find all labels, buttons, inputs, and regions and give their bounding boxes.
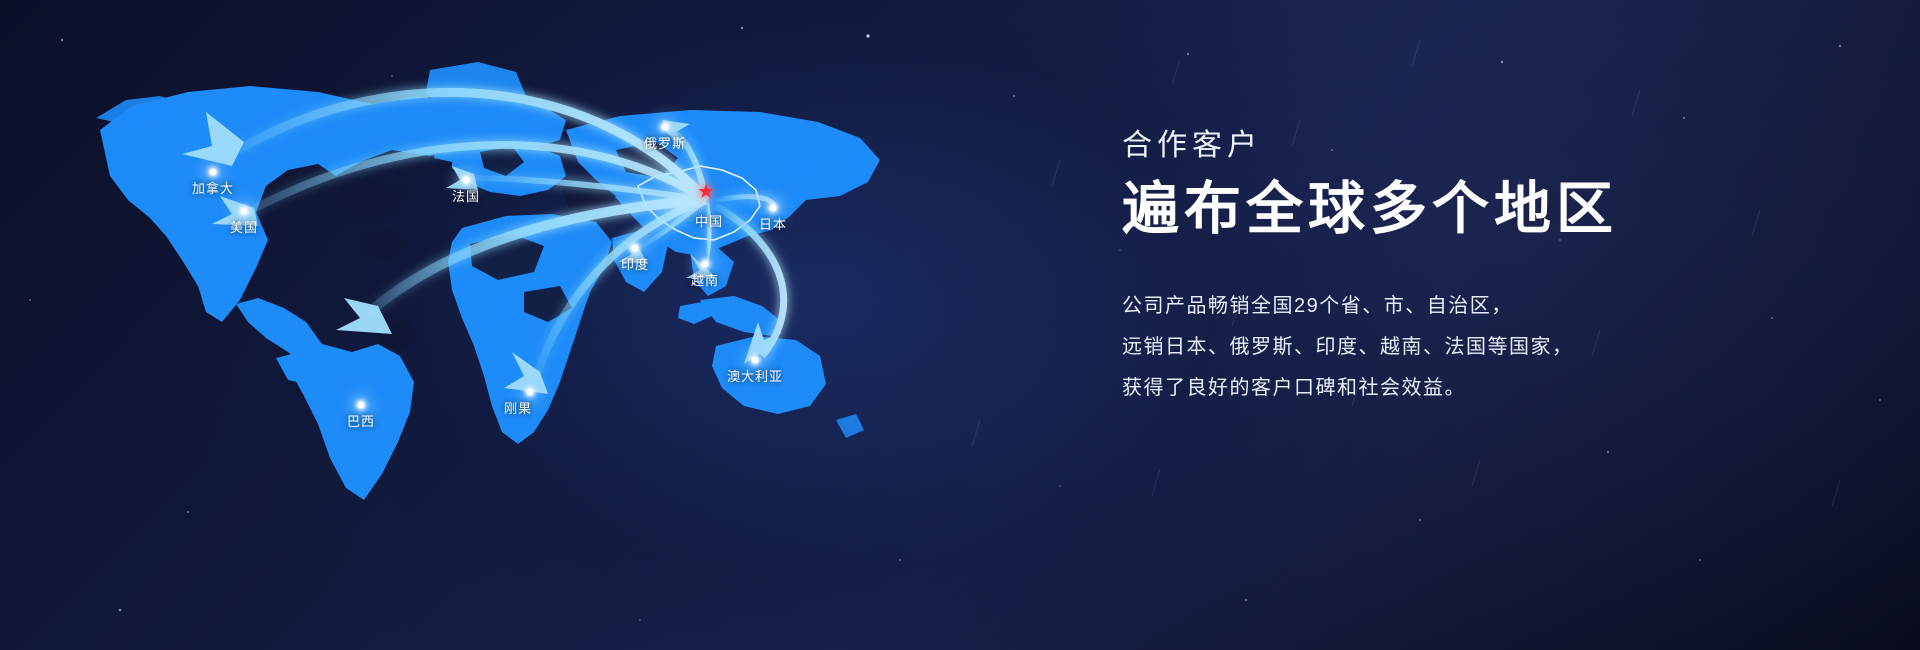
- marker-label-japan: 日本: [759, 214, 787, 233]
- marker-dot-india: [632, 245, 639, 252]
- marker-dot-congo: [527, 389, 534, 396]
- marker-label-congo: 刚果: [504, 398, 532, 417]
- description-line-2: 远销日本、俄罗斯、印度、越南、法国等国家，: [1122, 327, 1862, 368]
- marker-label-france: 法国: [452, 186, 480, 205]
- page-title: 遍布全球多个地区: [1122, 178, 1862, 242]
- world-map: ★ 加拿大 美国 巴西 刚果 法国 俄罗斯 印度 中国 日本 越南 澳大利亚: [0, 0, 1060, 650]
- eyebrow-text: 合作客户: [1122, 120, 1862, 164]
- marker-dot-japan: [770, 205, 777, 212]
- marker-dot-france: [463, 177, 470, 184]
- marker-label-australia: 澳大利亚: [727, 366, 783, 385]
- copy-block: 合作客户 遍布全球多个地区 公司产品畅销全国29个省、市、自治区， 远销日本、俄…: [1122, 120, 1862, 409]
- description-line-3: 获得了良好的客户口碑和社会效益。: [1122, 368, 1862, 409]
- description-line-1: 公司产品畅销全国29个省、市、自治区，: [1122, 286, 1862, 327]
- marker-label-india: 印度: [621, 254, 649, 273]
- marker-label-vietnam: 越南: [691, 270, 719, 289]
- marker-dot-russia: [662, 124, 669, 131]
- marker-label-usa: 美国: [230, 217, 258, 236]
- marker-label-canada: 加拿大: [192, 178, 234, 197]
- description-paragraph: 公司产品畅销全国29个省、市、自治区， 远销日本、俄罗斯、印度、越南、法国等国家…: [1122, 286, 1862, 409]
- china-star-marker: ★: [697, 182, 715, 202]
- marker-dot-usa: [241, 208, 248, 215]
- marker-dot-canada: [210, 169, 217, 176]
- marker-label-brazil: 巴西: [347, 411, 375, 430]
- marker-dot-australia: [752, 357, 759, 364]
- hero-banner: ★ 加拿大 美国 巴西 刚果 法国 俄罗斯 印度 中国 日本 越南 澳大利亚 合…: [0, 0, 1920, 650]
- marker-label-russia: 俄罗斯: [644, 133, 686, 152]
- marker-dot-vietnam: [702, 261, 709, 268]
- marker-dot-brazil: [358, 402, 365, 409]
- marker-label-china: 中国: [695, 211, 723, 230]
